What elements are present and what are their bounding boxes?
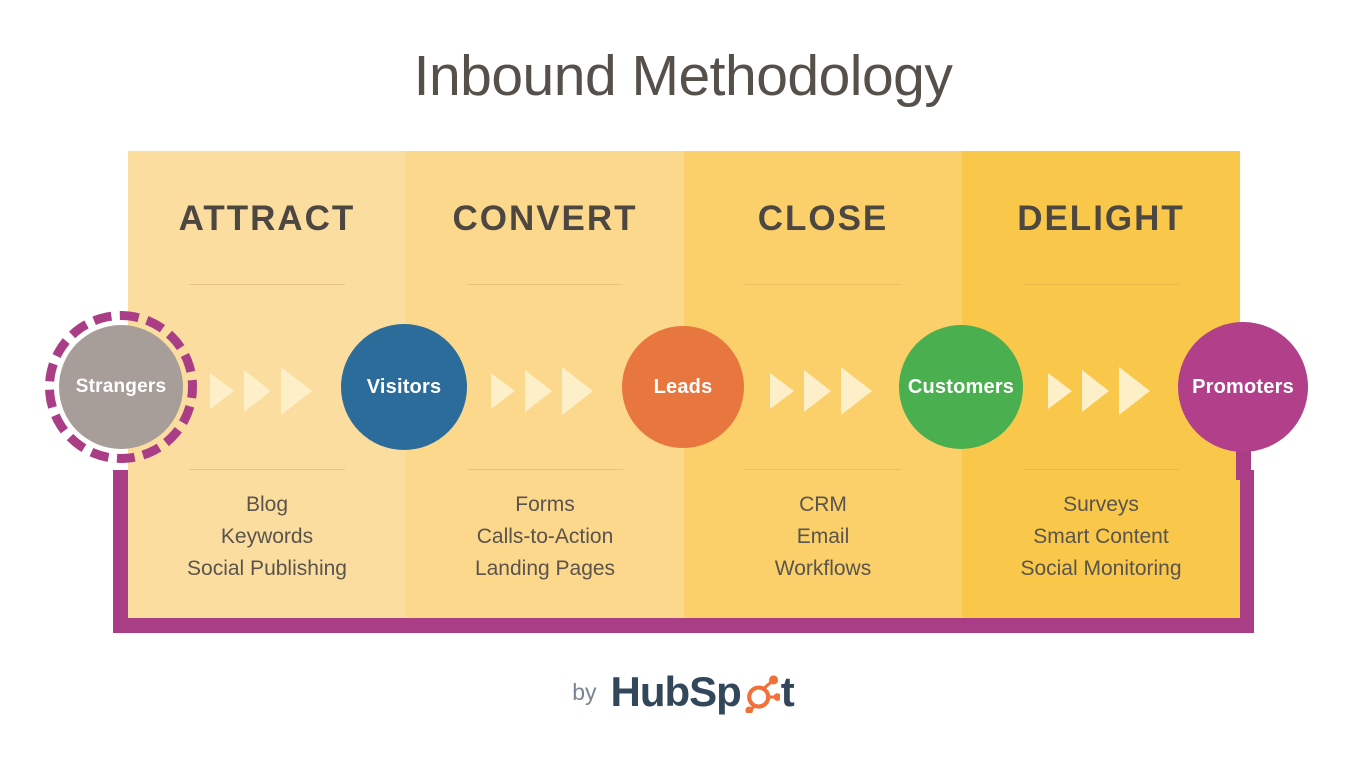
stage-divider-bottom xyxy=(189,469,345,470)
arrow-group-leads-to-customers xyxy=(770,363,872,419)
by-label: by xyxy=(572,679,596,706)
tool-item: Calls-to-Action xyxy=(406,521,684,553)
node-promoters[interactable]: Promoters xyxy=(1178,322,1308,452)
node-leads[interactable]: Leads xyxy=(622,326,744,448)
stage-divider-top xyxy=(1023,284,1179,285)
hubspot-attribution: by HubSp t xyxy=(0,668,1366,716)
stage-tools-convert: Forms Calls-to-Action Landing Pages xyxy=(406,489,684,585)
tool-item: CRM xyxy=(684,489,962,521)
stage-divider-bottom xyxy=(1023,469,1179,470)
node-label: Leads xyxy=(654,376,713,399)
node-strangers[interactable]: Strangers xyxy=(59,325,183,449)
chevron-right-icon xyxy=(1048,373,1072,409)
stage-heading-delight: DELIGHT xyxy=(962,199,1240,239)
hubspot-wordmark-start: HubSp xyxy=(610,668,740,716)
tool-item: Landing Pages xyxy=(406,553,684,585)
stage-tools-attract: Blog Keywords Social Publishing xyxy=(128,489,406,585)
tool-item: Forms xyxy=(406,489,684,521)
hubspot-sprocket-icon xyxy=(742,675,780,713)
stage-divider-bottom xyxy=(745,469,901,470)
tool-item: Keywords xyxy=(128,521,406,553)
chevron-right-icon xyxy=(281,367,312,415)
node-customers[interactable]: Customers xyxy=(899,325,1023,449)
tool-item: Workflows xyxy=(684,553,962,585)
tool-item: Surveys xyxy=(962,489,1240,521)
node-visitors[interactable]: Visitors xyxy=(341,324,467,450)
stage-tools-delight: Surveys Smart Content Social Monitoring xyxy=(962,489,1240,585)
stage-divider-bottom xyxy=(467,469,623,470)
node-label: Visitors xyxy=(367,376,442,399)
chevron-right-icon xyxy=(244,370,271,412)
chevron-right-icon xyxy=(804,370,831,412)
stage-tools-close: CRM Email Workflows xyxy=(684,489,962,585)
stage-divider-top xyxy=(745,284,901,285)
node-label: Customers xyxy=(908,376,1014,399)
tool-item: Email xyxy=(684,521,962,553)
arrow-group-strangers-to-visitors xyxy=(210,363,312,419)
node-label: Strangers xyxy=(76,376,167,398)
chevron-right-icon xyxy=(770,373,794,409)
hubspot-wordmark-end: t xyxy=(781,668,794,716)
arrow-group-visitors-to-leads xyxy=(491,363,593,419)
chevron-right-icon xyxy=(1119,367,1150,415)
chevron-right-icon xyxy=(491,373,515,409)
stage-divider-top xyxy=(189,284,345,285)
tool-item: Social Monitoring xyxy=(962,553,1240,585)
tool-item: Smart Content xyxy=(962,521,1240,553)
chevron-right-icon xyxy=(562,367,593,415)
hubspot-logo: HubSp t xyxy=(610,668,793,716)
arrow-group-customers-to-promoters xyxy=(1048,363,1150,419)
chevron-right-icon xyxy=(210,373,234,409)
node-label: Promoters xyxy=(1192,376,1294,399)
chevron-right-icon xyxy=(841,367,872,415)
stage-heading-attract: ATTRACT xyxy=(128,199,406,239)
stage-heading-convert: CONVERT xyxy=(406,199,684,239)
chevron-right-icon xyxy=(1082,370,1109,412)
page-title: Inbound Methodology xyxy=(0,48,1366,105)
tool-item: Blog xyxy=(128,489,406,521)
chevron-right-icon xyxy=(525,370,552,412)
stage-heading-close: CLOSE xyxy=(684,199,962,239)
tool-item: Social Publishing xyxy=(128,553,406,585)
stage-divider-top xyxy=(467,284,623,285)
